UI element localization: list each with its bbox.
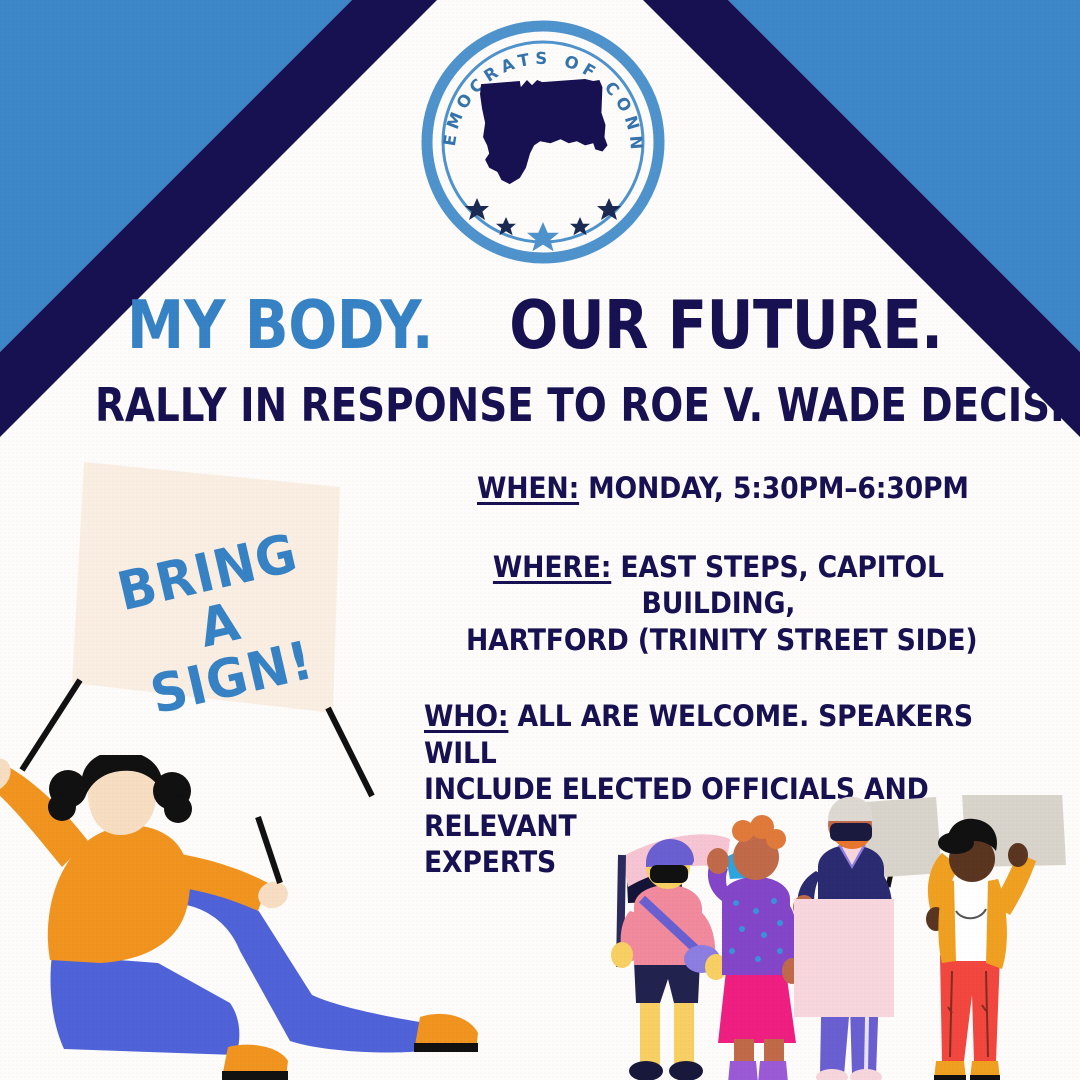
rally-flyer-poster: YOUNG DEMOCRATS OF CONNECTICUT MY BODY.O… <box>0 0 1080 1080</box>
young-democrats-logo: YOUNG DEMOCRATS OF CONNECTICUT <box>413 12 673 272</box>
headline-part-one: MY BODY. <box>127 292 433 359</box>
who-label: WHO: <box>424 699 508 733</box>
where-line-two: HARTFORD (TRINITY STREET SIDE) <box>466 622 977 659</box>
subheadline-text: RALLY IN RESPONSE TO ROE V. WADE DECISIO… <box>95 382 1080 428</box>
headline: MY BODY.OUR FUTURE. <box>0 292 1080 359</box>
protester-with-pink-placard <box>793 797 942 1080</box>
seated-protester-illustration <box>0 755 510 1080</box>
subheadline: RALLY IN RESPONSE TO ROE V. WADE DECISIO… <box>0 382 1080 428</box>
detail-where: WHERE: EAST STEPS, CAPITOL BUILDING, HAR… <box>424 549 1064 659</box>
when-value: MONDAY, 5:30PM–6:30PM <box>588 471 969 505</box>
detail-when: WHEN: MONDAY, 5:30PM–6:30PM <box>424 470 1064 507</box>
protester-with-megaphone <box>707 815 802 1080</box>
protester-raising-sign <box>926 795 1066 1080</box>
where-label: WHERE: <box>493 550 611 584</box>
protest-group-illustration <box>600 795 1080 1080</box>
when-label: WHEN: <box>477 471 579 505</box>
where-line-one: EAST STEPS, CAPITOL BUILDING, <box>620 550 944 621</box>
headline-part-two: OUR FUTURE. <box>509 292 942 359</box>
